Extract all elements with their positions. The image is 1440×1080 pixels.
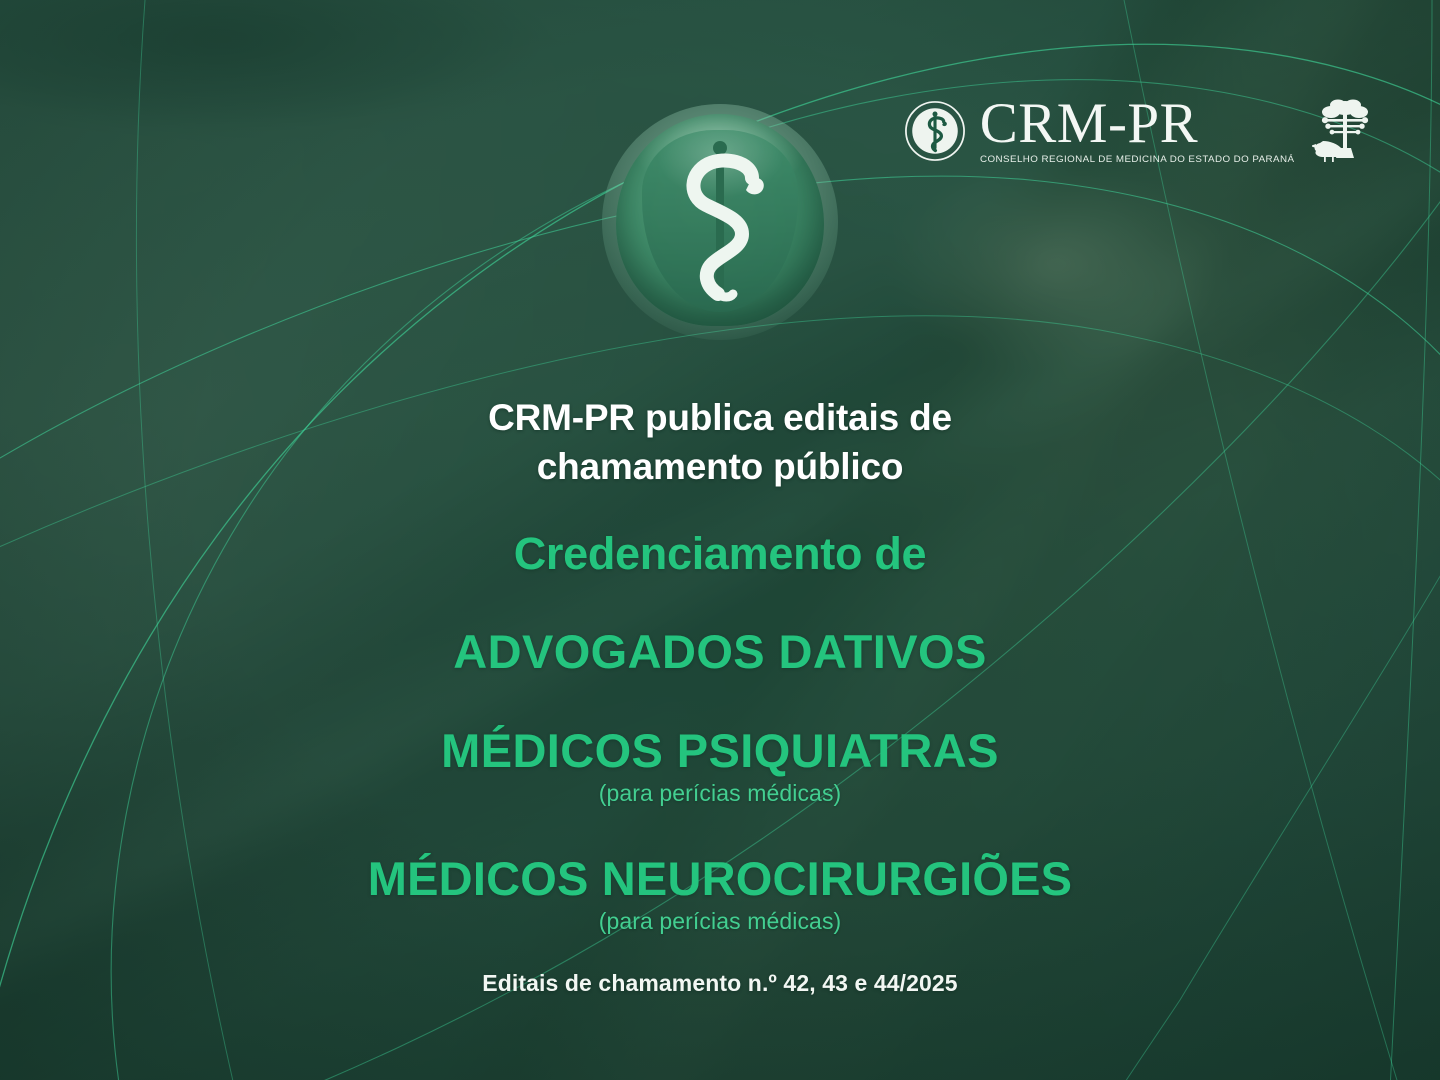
brand-tagline: CONSELHO REGIONAL DE MEDICINA DO ESTADO … [980,154,1294,165]
crm-pr-brand-lockup: CRM-PR CONSELHO REGIONAL DE MEDICINA DO … [904,96,1378,166]
asclepius-rod-circle-icon [904,100,966,162]
page-title: CRM-PR publica editais de chamamento púb… [440,394,1000,492]
central-crm-emblem [602,104,838,340]
role-note-medicos-neurocirurgioes: (para perícias médicas) [120,908,1320,935]
role-title-medicos-psiquiatras: MÉDICOS PSIQUIATRAS [120,723,1320,778]
poster-canvas: CRM-PR CONSELHO REGIONAL DE MEDICINA DO … [0,0,1440,1080]
editais-footnote: Editais de chamamento n.º 42, 43 e 44/20… [0,970,1440,997]
parana-araucaria-tree-bird-icon [1312,96,1378,166]
role-note-medicos-psiquiatras: (para perícias médicas) [120,780,1320,807]
brand-text-block: CRM-PR CONSELHO REGIONAL DE MEDICINA DO … [980,97,1288,165]
poster-content: CRM-PR publica editais de chamamento púb… [0,394,1440,935]
role-title-medicos-neurocirurgioes: MÉDICOS NEUROCIRURGIÕES [120,851,1320,906]
role-title-advogados-dativos: ADVOGADOS DATIVOS [120,624,1320,679]
asclepius-rod-icon [602,104,838,340]
subject-line: Credenciamento de [120,528,1320,580]
brand-name: CRM-PR [980,97,1198,151]
